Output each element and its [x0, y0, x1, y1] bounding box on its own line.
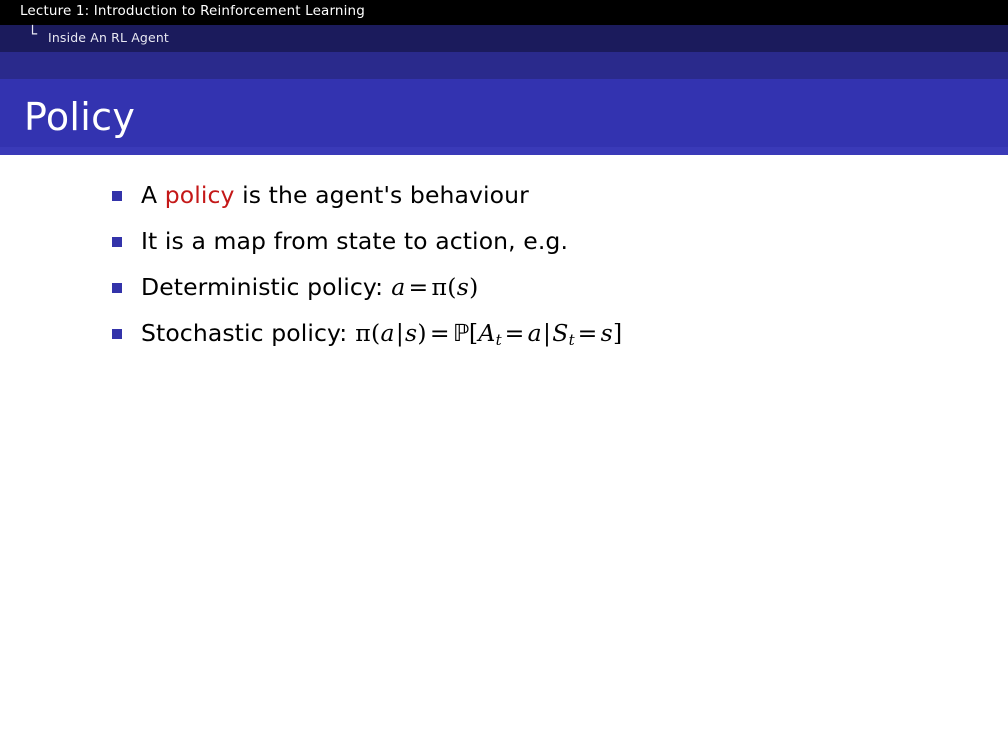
square-bullet-icon	[112, 191, 122, 201]
math-paren-open: (	[447, 273, 456, 301]
header-subsection-title: Inside An RL Agent	[48, 30, 169, 45]
square-bullet-icon	[112, 237, 122, 247]
bullet-list: A policy is the agent's behaviour It is …	[112, 180, 912, 364]
math-conditional-bar: |	[395, 319, 405, 347]
math-symbol-pi: π	[432, 273, 448, 301]
header-lecture-title: Lecture 1: Introduction to Reinforcement…	[20, 3, 365, 19]
math-var-S: S	[552, 319, 568, 347]
math-subscript-t: t	[569, 331, 575, 349]
math-conditional-bar: |	[542, 319, 552, 347]
bullet-text-stochastic-policy: Stochastic policy:π(a|s)=ℙ[At=a|St=s]	[141, 318, 912, 355]
math-paren-open: (	[371, 319, 380, 347]
math-var-s: s	[405, 319, 417, 347]
math-bracket-close: ]	[613, 319, 622, 347]
math-symbol-pi: π	[355, 319, 371, 347]
math-var-a: a	[391, 273, 405, 301]
math-var-s: s	[601, 319, 613, 347]
square-bullet-icon	[112, 329, 122, 339]
bullet-text-suffix: is the agent's behaviour	[235, 181, 529, 209]
slide-title-bar	[0, 79, 1008, 155]
math-op-equals: =	[575, 319, 601, 347]
math-op-equals: =	[502, 319, 528, 347]
page-title: Policy	[24, 98, 135, 136]
bullet-text-policy-definition: A policy is the agent's behaviour	[141, 180, 912, 210]
tree-branch-icon: └	[28, 27, 37, 42]
math-var-s: s	[457, 273, 469, 301]
bullet-label-deterministic: Deterministic policy:	[141, 273, 383, 301]
bullet-label-stochastic: Stochastic policy:	[141, 319, 347, 347]
math-var-a: a	[528, 319, 542, 347]
formula-deterministic-policy: a=π(s)	[383, 273, 478, 301]
presentation-slide: Lecture 1: Introduction to Reinforcement…	[0, 0, 1008, 756]
math-op-equals: =	[427, 319, 453, 347]
bullet-text-deterministic-policy: Deterministic policy:a=π(s)	[141, 272, 912, 302]
keyword-policy: policy	[165, 181, 235, 209]
math-bracket-open: [	[469, 319, 478, 347]
list-item: A policy is the agent's behaviour	[112, 180, 912, 226]
bullet-text-policy-map: It is a map from state to action, e.g.	[141, 226, 912, 256]
math-paren-close: )	[417, 319, 426, 347]
slide-title-bar-accent	[0, 147, 1008, 155]
bullet-text-prefix: A	[141, 181, 165, 209]
math-symbol-probability: ℙ	[453, 319, 469, 347]
list-item: Stochastic policy:π(a|s)=ℙ[At=a|St=s]	[112, 318, 912, 364]
math-subscript-t: t	[496, 331, 502, 349]
list-item: It is a map from state to action, e.g.	[112, 226, 912, 272]
header-accent-band	[0, 52, 1008, 79]
list-item: Deterministic policy:a=π(s)	[112, 272, 912, 318]
math-var-a: a	[381, 319, 395, 347]
math-paren-close: )	[469, 273, 478, 301]
formula-stochastic-policy: π(a|s)=ℙ[At=a|St=s]	[347, 319, 622, 347]
square-bullet-icon	[112, 283, 122, 293]
math-op-equals: =	[406, 273, 432, 301]
math-var-A: A	[478, 319, 495, 347]
